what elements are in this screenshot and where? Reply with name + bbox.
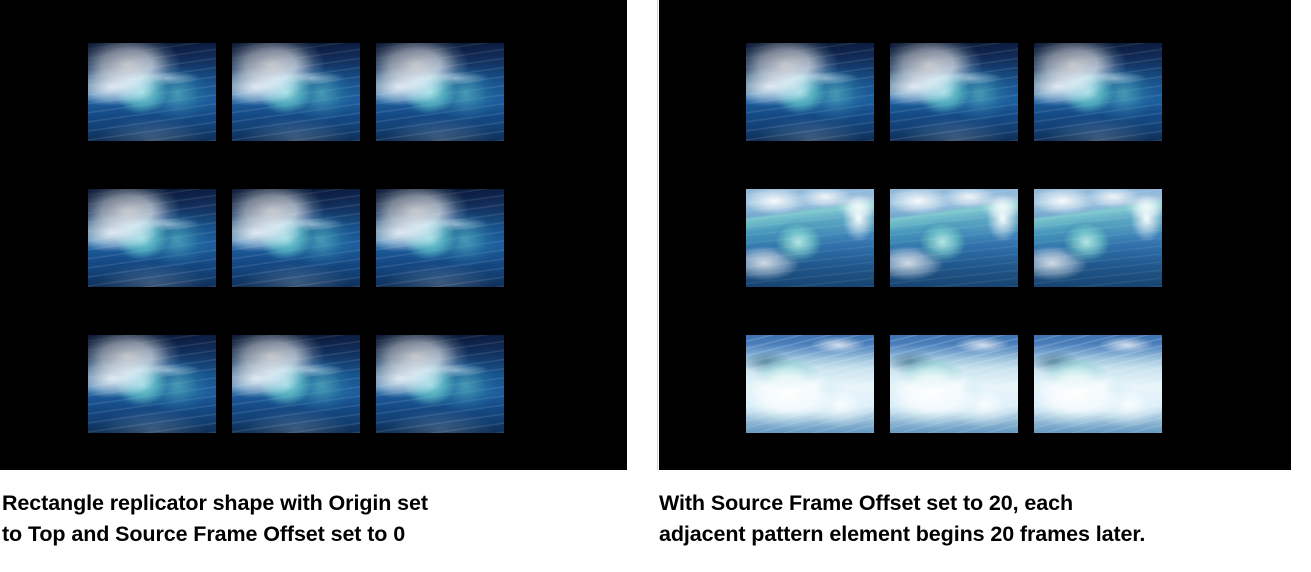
wave-thumbnail	[890, 189, 1018, 287]
canvas-panel-left	[0, 0, 627, 470]
wave-thumbnail	[376, 189, 504, 287]
pattern-element	[232, 189, 360, 287]
wave-thumbnail	[1034, 189, 1162, 287]
wave-thumbnail	[232, 189, 360, 287]
pattern-element	[88, 335, 216, 433]
pattern-element	[746, 335, 874, 433]
pattern-element	[376, 43, 504, 141]
caption-left: Rectangle replicator shape with Origin s…	[2, 488, 602, 550]
pattern-element	[1034, 335, 1162, 433]
pattern-element	[746, 189, 874, 287]
replicator-grid-left	[88, 43, 504, 433]
pattern-element	[1034, 189, 1162, 287]
wave-thumbnail	[232, 43, 360, 141]
pattern-element	[890, 335, 1018, 433]
replicator-offset-figure: Rectangle replicator shape with Origin s…	[0, 0, 1311, 572]
wave-thumbnail	[376, 335, 504, 433]
pattern-element	[232, 335, 360, 433]
pattern-element	[376, 335, 504, 433]
pattern-element	[890, 189, 1018, 287]
wave-thumbnail	[88, 43, 216, 141]
wave-thumbnail	[746, 335, 874, 433]
pattern-element	[890, 43, 1018, 141]
wave-thumbnail	[746, 189, 874, 287]
pattern-element	[746, 43, 874, 141]
caption-right: With Source Frame Offset set to 20, each…	[659, 488, 1299, 550]
wave-thumbnail	[890, 43, 1018, 141]
pattern-element	[376, 189, 504, 287]
wave-thumbnail	[88, 335, 216, 433]
pattern-element	[1034, 43, 1162, 141]
caption-right-line1: With Source Frame Offset set to 20, each	[659, 488, 1299, 519]
wave-thumbnail	[88, 189, 216, 287]
wave-thumbnail	[232, 335, 360, 433]
wave-thumbnail	[1034, 43, 1162, 141]
replicator-grid-right	[746, 43, 1162, 433]
wave-thumbnail	[376, 43, 504, 141]
pattern-element	[232, 43, 360, 141]
pattern-element	[88, 189, 216, 287]
canvas-panel-right	[659, 0, 1291, 470]
caption-left-line1: Rectangle replicator shape with Origin s…	[2, 488, 602, 519]
wave-thumbnail	[1034, 335, 1162, 433]
pattern-element	[88, 43, 216, 141]
panel-divider	[657, 0, 658, 470]
wave-thumbnail	[890, 335, 1018, 433]
caption-left-line2: to Top and Source Frame Offset set to 0	[2, 519, 602, 550]
wave-thumbnail	[746, 43, 874, 141]
caption-right-line2: adjacent pattern element begins 20 frame…	[659, 519, 1299, 550]
